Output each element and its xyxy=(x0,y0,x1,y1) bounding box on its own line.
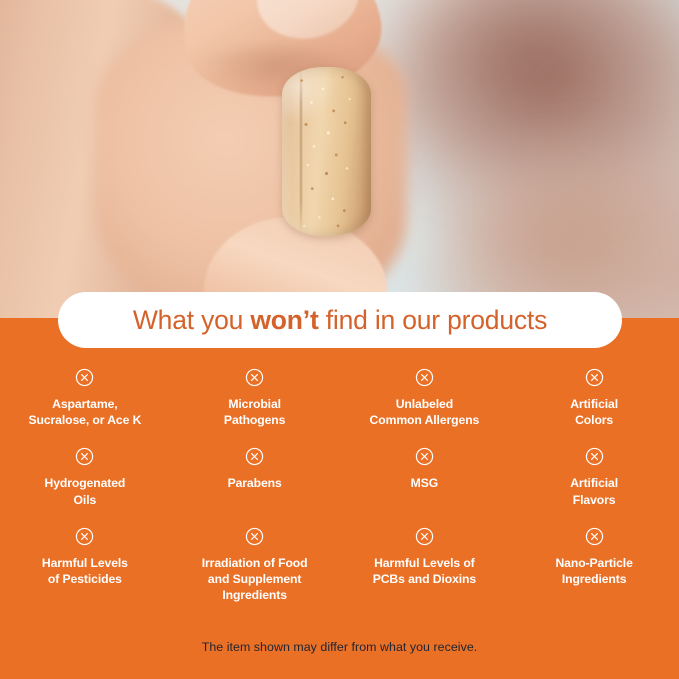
excluded-ingredient-label: Parabens xyxy=(228,475,282,491)
circle-x-icon xyxy=(415,368,434,387)
circle-x-icon xyxy=(245,447,264,466)
excluded-ingredient-item: Nano-Particle Ingredients xyxy=(509,527,679,604)
excluded-ingredient-label: Unlabeled Common Allergens xyxy=(370,396,480,428)
circle-x-icon xyxy=(585,527,604,546)
page-title-suffix: find in our products xyxy=(319,305,548,335)
excluded-ingredient-item: Harmful Levels of Pesticides xyxy=(0,527,170,604)
excluded-ingredient-label: MSG xyxy=(411,475,438,491)
excluded-ingredient-item: Harmful Levels of PCBs and Dioxins xyxy=(340,527,510,604)
circle-x-icon xyxy=(245,368,264,387)
disclaimer-text: The item shown may differ from what you … xyxy=(0,640,679,654)
excluded-ingredient-item: Artificial Colors xyxy=(509,368,679,428)
excluded-ingredients-grid: Aspartame, Sucralose, or Ace KMicrobial … xyxy=(0,368,679,604)
excluded-ingredient-item: Parabens xyxy=(170,447,340,507)
excluded-ingredient-label: Nano-Particle Ingredients xyxy=(555,555,632,587)
excluded-ingredient-label: Irradiation of Food and Supplement Ingre… xyxy=(202,555,308,604)
product-claims-banner: What you won’t find in our products Aspa… xyxy=(0,0,679,679)
excluded-ingredient-label: Microbial Pathogens xyxy=(224,396,285,428)
excluded-ingredient-label: Artificial Colors xyxy=(570,396,618,428)
page-title: What you won’t find in our products xyxy=(133,307,547,334)
circle-x-icon xyxy=(245,527,264,546)
hero-photo xyxy=(0,0,679,319)
excluded-ingredient-label: Harmful Levels of PCBs and Dioxins xyxy=(373,555,476,587)
excluded-ingredient-item: Unlabeled Common Allergens xyxy=(340,368,510,428)
excluded-ingredient-label: Hydrogenated Oils xyxy=(45,475,126,507)
circle-x-icon xyxy=(75,527,94,546)
circle-x-icon xyxy=(415,447,434,466)
excluded-ingredient-item: MSG xyxy=(340,447,510,507)
circle-x-icon xyxy=(415,527,434,546)
supplement-tablet xyxy=(282,67,372,236)
excluded-ingredient-item: Irradiation of Food and Supplement Ingre… xyxy=(170,527,340,604)
circle-x-icon xyxy=(585,447,604,466)
excluded-ingredient-item: Aspartame, Sucralose, or Ace K xyxy=(0,368,170,428)
page-title-prefix: What you xyxy=(133,305,251,335)
circle-x-icon xyxy=(585,368,604,387)
tablet-edge-seam xyxy=(300,70,302,232)
excluded-ingredient-item: Artificial Flavors xyxy=(509,447,679,507)
heading-card: What you won’t find in our products xyxy=(58,292,622,348)
circle-x-icon xyxy=(75,368,94,387)
excluded-ingredient-item: Microbial Pathogens xyxy=(170,368,340,428)
page-title-emphasis: won’t xyxy=(250,305,318,335)
excluded-ingredient-item: Hydrogenated Oils xyxy=(0,447,170,507)
circle-x-icon xyxy=(75,447,94,466)
excluded-ingredient-label: Aspartame, Sucralose, or Ace K xyxy=(28,396,141,428)
tablet-speckles xyxy=(282,67,372,236)
excluded-ingredient-label: Artificial Flavors xyxy=(570,475,618,507)
excluded-ingredient-label: Harmful Levels of Pesticides xyxy=(42,555,128,587)
